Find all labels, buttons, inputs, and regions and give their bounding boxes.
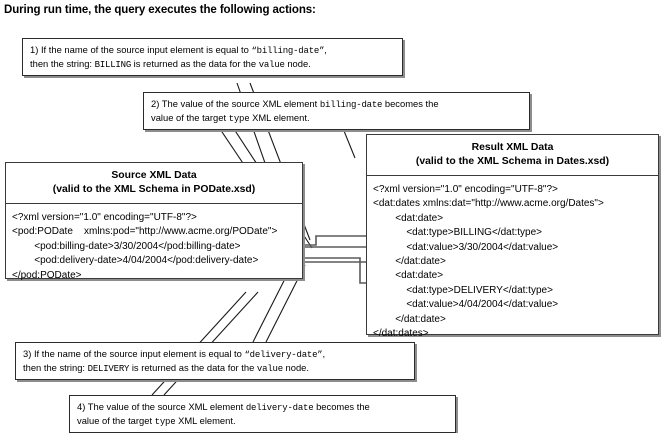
source-line: <pod:billing-date>3/30/2004</pod:billing… — [12, 240, 298, 254]
result-xml-content: <?xml version="1.0" encoding="UTF-8"?> <… — [367, 176, 658, 347]
callout-step-1: 1) If the name of the source input eleme… — [22, 38, 403, 76]
callout-step-4: 4) The value of the source XML element d… — [69, 395, 456, 433]
result-line: </dat:dates> — [373, 327, 654, 341]
source-xml-panel: Source XML Data (valid to the XML Schema… — [5, 162, 303, 279]
callout-step-2: 2) The value of the source XML element b… — [143, 92, 530, 130]
source-line: <pod:delivery-date>4/04/2004</pod:delive… — [12, 254, 298, 268]
callout-step-3: 3) If the name of the source input eleme… — [15, 342, 415, 380]
source-panel-title: Source XML Data — [10, 169, 298, 183]
callout-1-line-2: then the string: BILLING is returned as … — [30, 58, 395, 72]
callout-3-line-2: then the string: DELIVERY is returned as… — [23, 362, 407, 376]
result-line: <dat:dates xmlns:dat="http://www.acme.or… — [373, 197, 654, 211]
callout-2-line-2: value of the target type XML element. — [151, 112, 522, 126]
callout-4-line-2: value of the target type XML element. — [77, 415, 448, 429]
result-line: <dat:type>DELIVERY</dat:type> — [373, 284, 654, 298]
result-panel-title: Result XML Data — [371, 141, 654, 155]
callout-2-line-1: 2) The value of the source XML element b… — [151, 98, 522, 112]
callout-3-line-1: 3) If the name of the source input eleme… — [23, 348, 407, 362]
diagram-canvas: During run time, the query executes the … — [0, 0, 667, 433]
result-line: </dat:date> — [373, 313, 654, 327]
result-line: <?xml version="1.0" encoding="UTF-8"?> — [373, 183, 654, 197]
source-panel-header: Source XML Data (valid to the XML Schema… — [6, 163, 302, 204]
source-line: <?xml version="1.0" encoding="UTF-8"?> — [12, 211, 298, 225]
callout-1-line-1: 1) If the name of the source input eleme… — [30, 44, 395, 58]
result-line: <dat:date> — [373, 269, 654, 283]
source-panel-subtitle: (valid to the XML Schema in PODate.xsd) — [10, 183, 298, 197]
source-line: <pod:PODate xmlns:pod="http://www.acme.o… — [12, 225, 298, 239]
source-line: </pod:PODate> — [12, 269, 298, 283]
page-title: During run time, the query executes the … — [4, 4, 316, 16]
result-line: <dat:value>4/04/2004</dat:value> — [373, 298, 654, 312]
result-panel-subtitle: (valid to the XML Schema in Dates.xsd) — [371, 155, 654, 169]
result-line: <dat:value>3/30/2004</dat:value> — [373, 241, 654, 255]
callout-4-line-1: 4) The value of the source XML element d… — [77, 401, 448, 415]
result-xml-panel: Result XML Data (valid to the XML Schema… — [366, 134, 659, 335]
result-line: </dat:date> — [373, 255, 654, 269]
result-line: <dat:type>BILLING</dat:type> — [373, 226, 654, 240]
result-panel-header: Result XML Data (valid to the XML Schema… — [367, 135, 658, 176]
result-line: <dat:date> — [373, 212, 654, 226]
source-xml-content: <?xml version="1.0" encoding="UTF-8"?> <… — [6, 204, 302, 289]
